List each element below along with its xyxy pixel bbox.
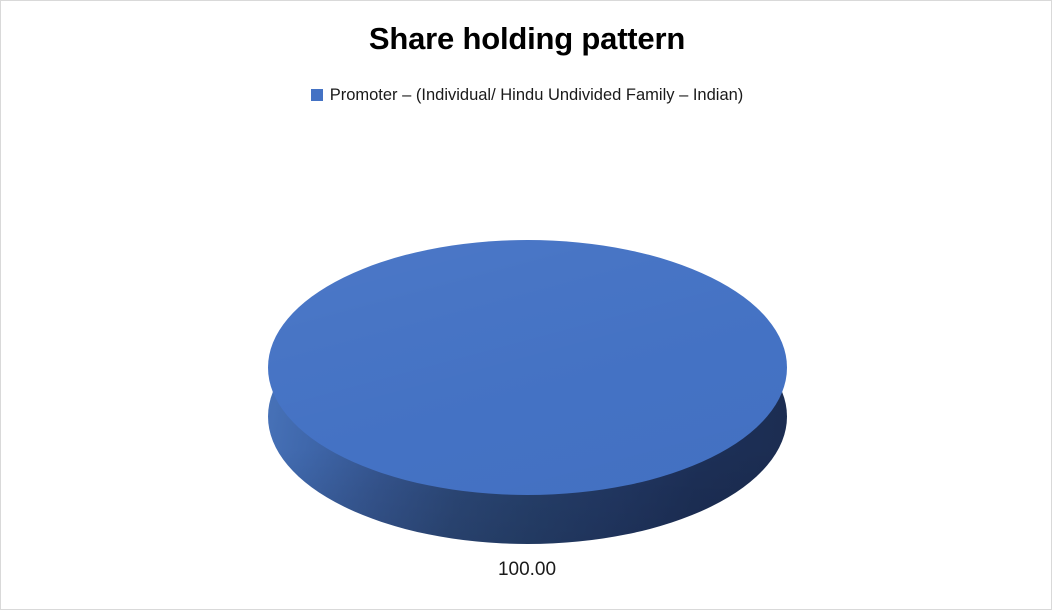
chart-container: Share holding pattern Promoter – (Indivi…: [0, 0, 1052, 610]
plot-area: [1, 1, 1052, 610]
pie-slice-top-sheen: [268, 240, 787, 495]
pie-data-label: 100.00: [1, 558, 1052, 582]
pie-3d-slice-promoter[interactable]: [268, 240, 787, 544]
pie-data-label-value: 100.00: [498, 559, 556, 580]
